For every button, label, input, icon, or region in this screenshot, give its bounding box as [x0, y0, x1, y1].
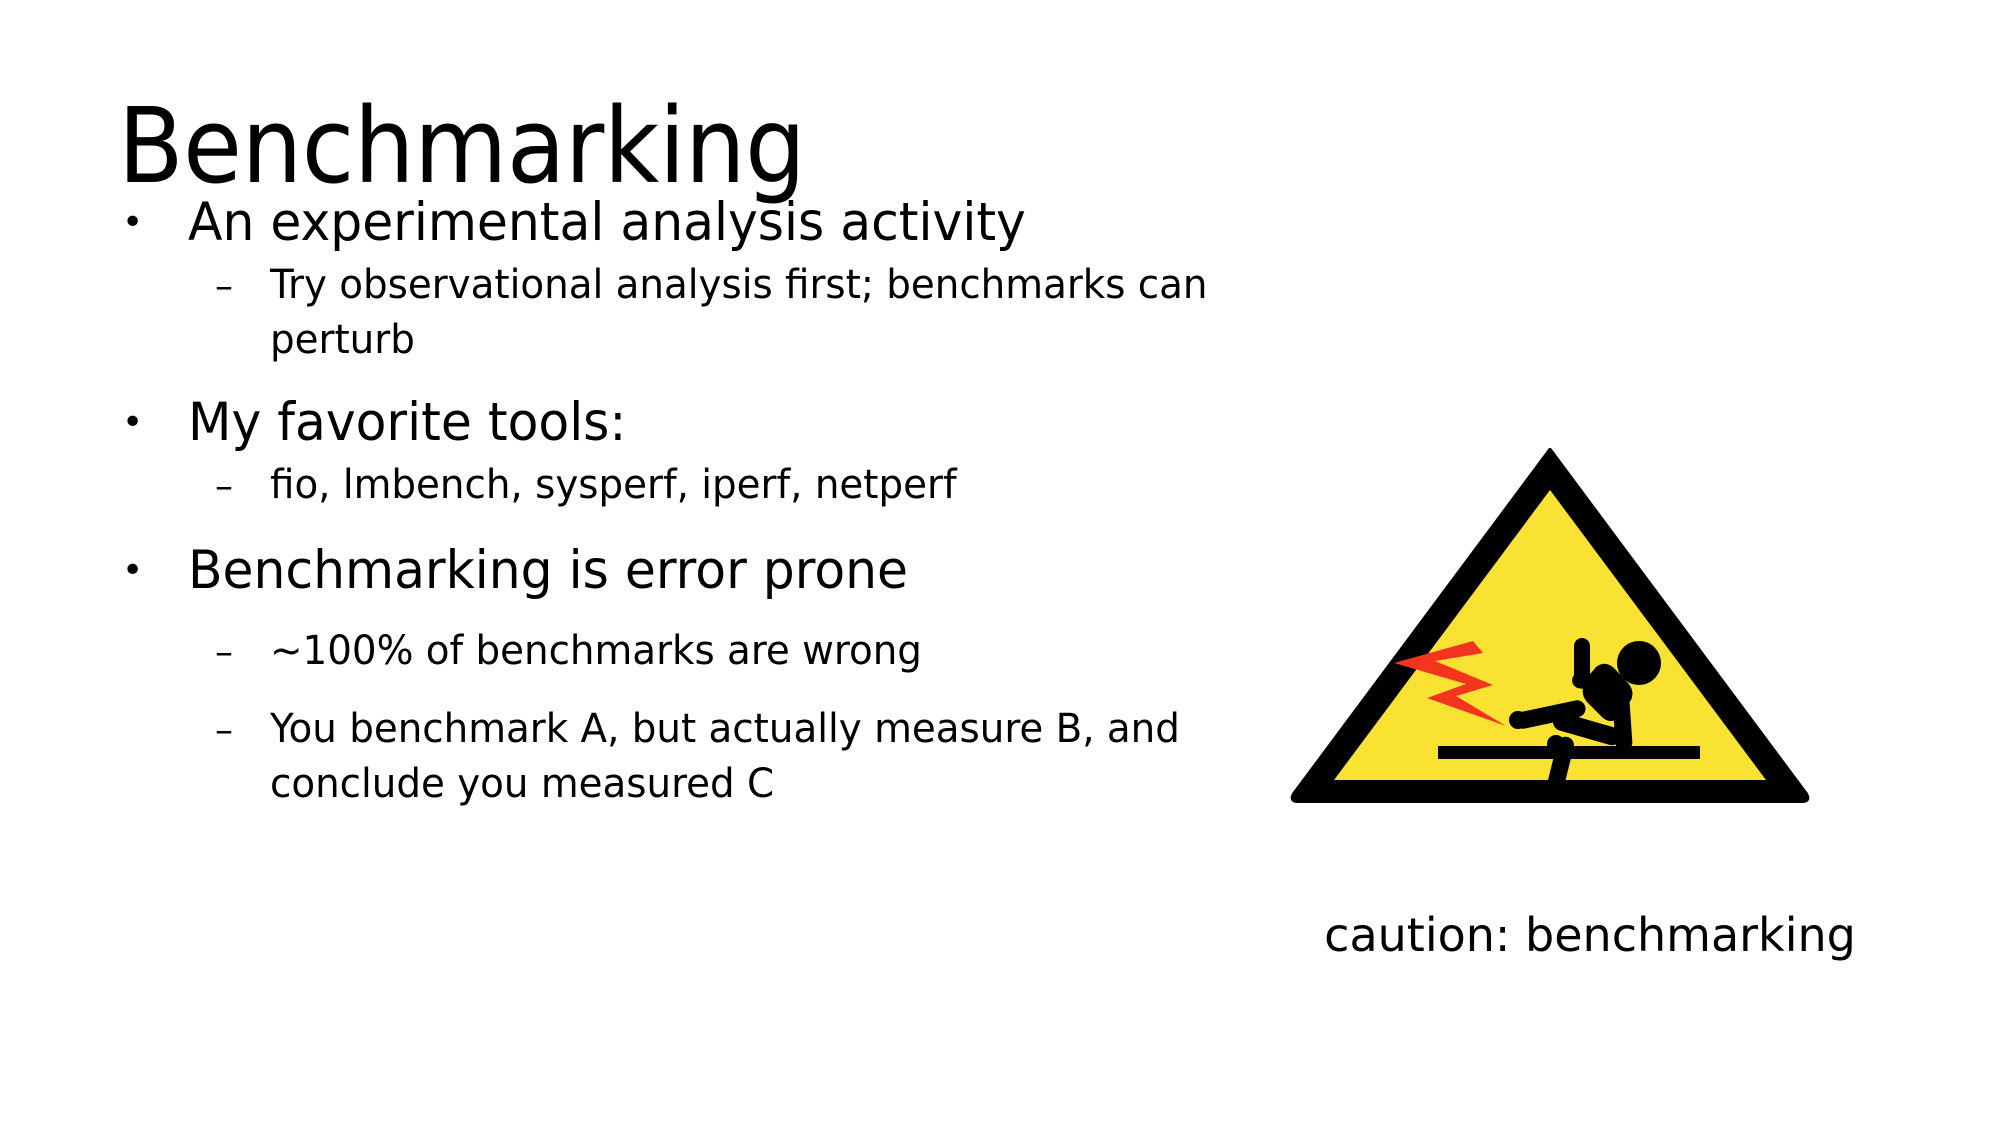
- bullet-marker-dot: •: [118, 190, 188, 256]
- bullet-text-4: fio, lmbench, sysperf, iperf, netperf: [270, 458, 957, 513]
- slide-canvas: Benchmarking • An experimental analysis …: [0, 0, 2000, 1125]
- bullet-item-7: – You benchmark A, but actually measure …: [0, 702, 1320, 812]
- bullet-text-1: An experimental analysis activity: [188, 190, 1026, 256]
- bullet-text-5: Benchmarking is error prone: [188, 538, 908, 604]
- warning-triangle-icon: [1290, 448, 1810, 803]
- bullet-list: • An experimental analysis activity – Tr…: [0, 190, 1320, 818]
- bullet-marker-dash: –: [215, 458, 270, 516]
- bullet-marker-dash: –: [215, 702, 270, 760]
- bullet-item-1: • An experimental analysis activity: [0, 190, 1320, 256]
- bullet-text-3: My favorite tools:: [188, 390, 626, 456]
- bullet-text-7: You benchmark A, but actually measure B,…: [270, 702, 1250, 812]
- bullet-marker-dot: •: [118, 390, 188, 456]
- bullet-item-3: • My favorite tools:: [0, 390, 1320, 456]
- bullet-item-6: – ~100% of benchmarks are wrong: [0, 624, 1320, 682]
- bullet-marker-dot: •: [118, 538, 188, 604]
- bullet-text-6: ~100% of benchmarks are wrong: [270, 624, 922, 679]
- bullet-item-5: • Benchmarking is error prone: [0, 538, 1320, 604]
- bullet-item-4: – fio, lmbench, sysperf, iperf, netperf: [0, 458, 1320, 516]
- figure-caption: caution: benchmarking: [1280, 910, 1900, 961]
- bullet-item-2: – Try observational analysis first; benc…: [0, 258, 1320, 368]
- bullet-marker-dash: –: [215, 624, 270, 682]
- page-title: Benchmarking: [118, 92, 805, 201]
- bullet-marker-dash: –: [215, 258, 270, 316]
- bullet-text-2: Try observational analysis first; benchm…: [270, 258, 1250, 368]
